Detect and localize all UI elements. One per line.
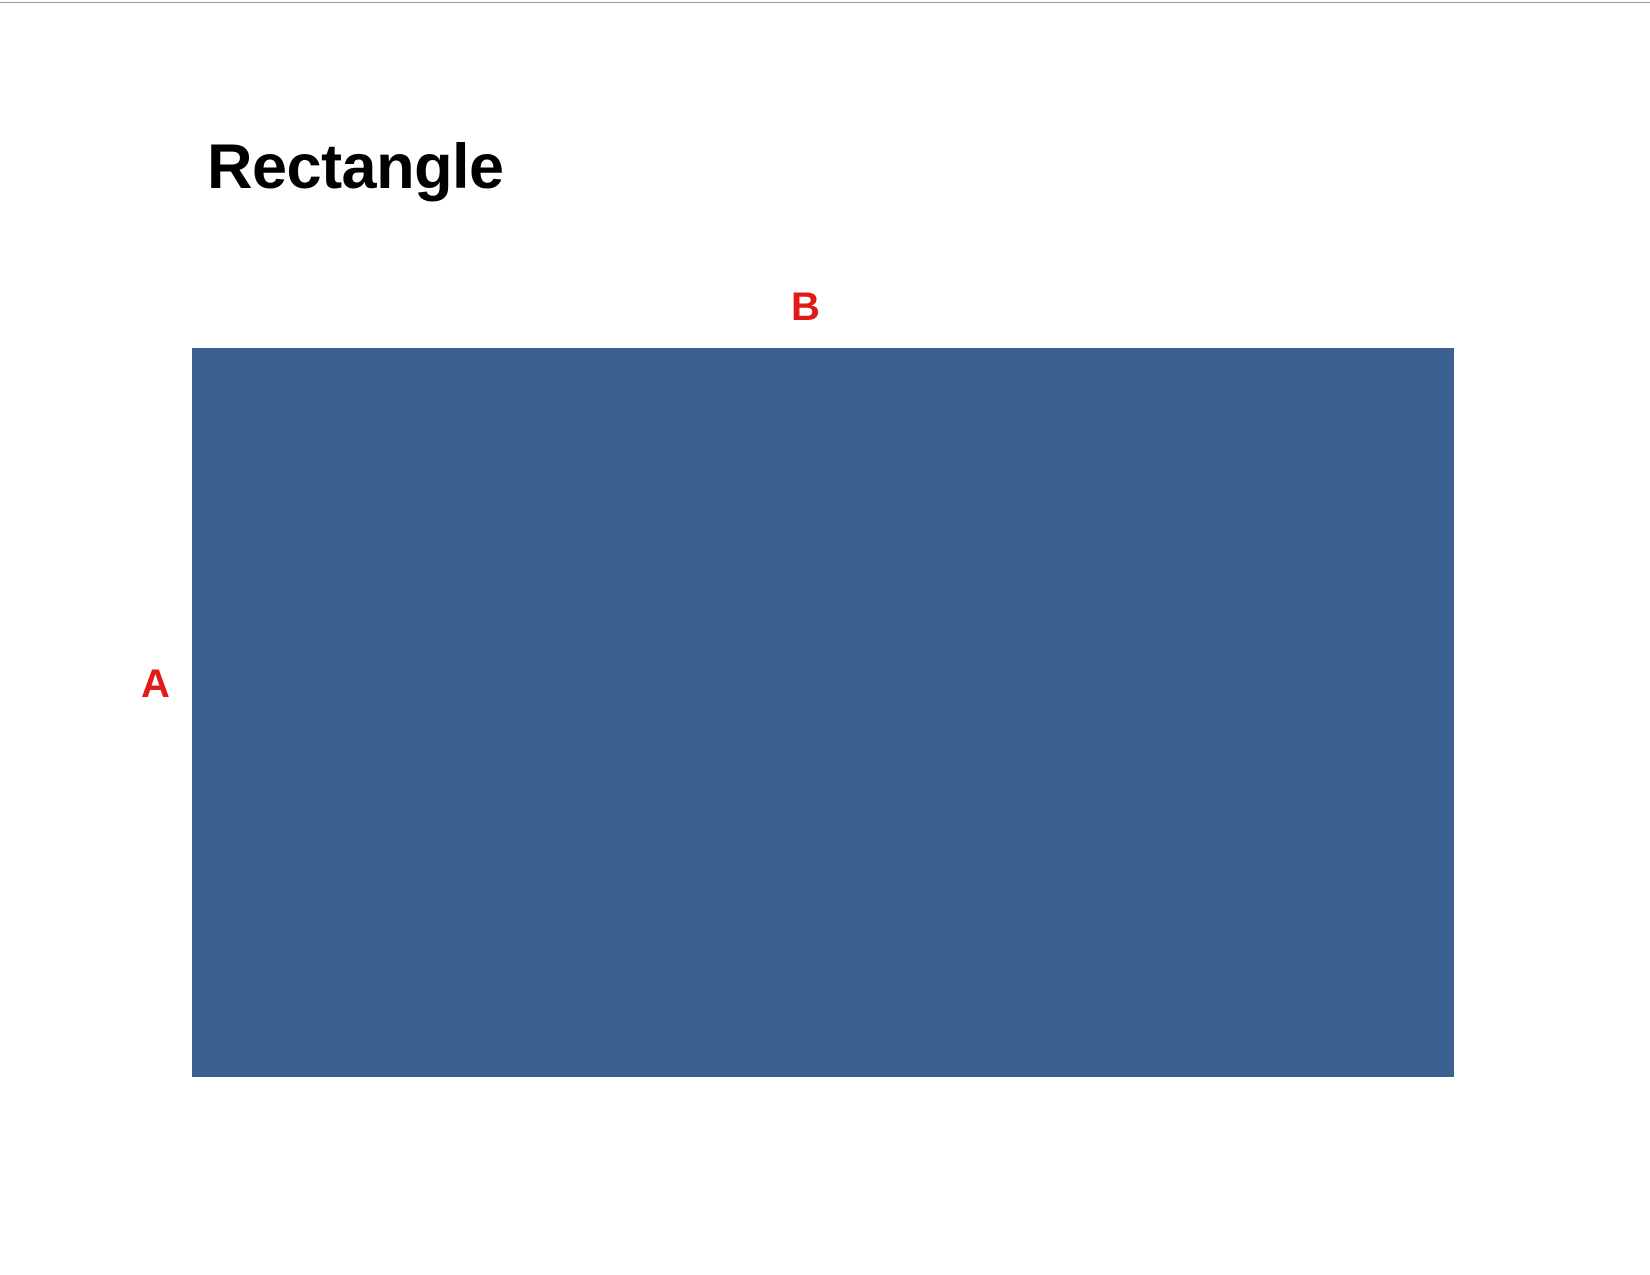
top-edge-divider — [0, 2, 1650, 3]
rectangle-shape[interactable] — [192, 348, 1454, 1077]
page-title: Rectangle — [207, 136, 504, 199]
dimension-label-b: B — [791, 287, 820, 327]
slide-canvas: Rectangle B A — [0, 0, 1650, 1275]
dimension-label-a: A — [141, 664, 170, 704]
